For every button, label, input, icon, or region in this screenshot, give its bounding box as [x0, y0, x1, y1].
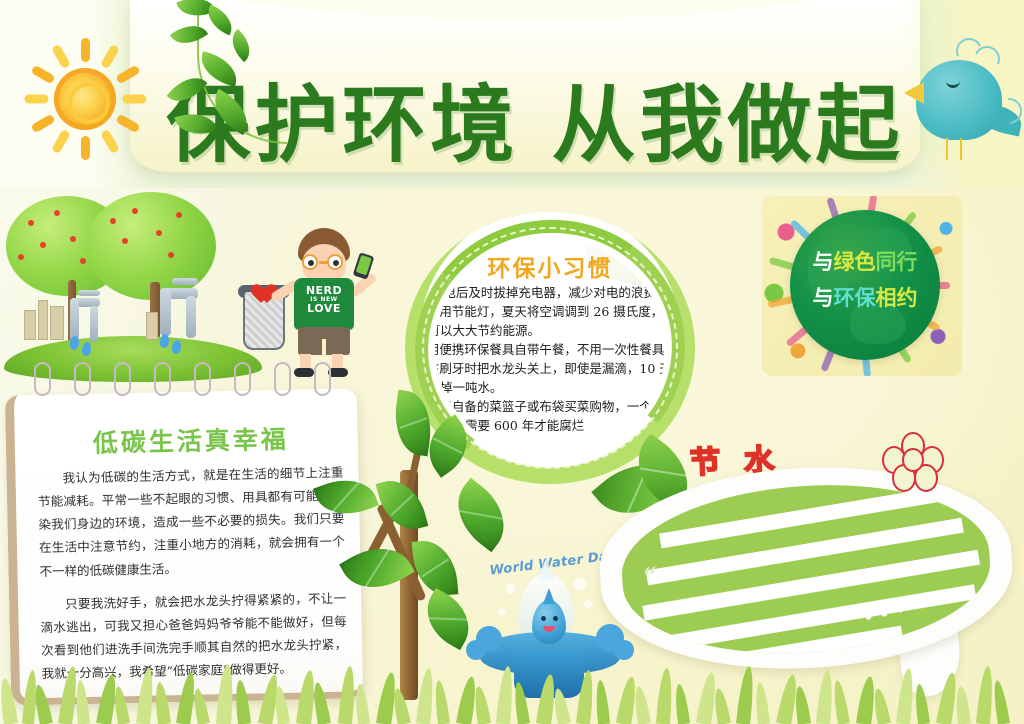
glasses-lens — [327, 254, 343, 270]
habits-title: 环保小习惯 — [435, 249, 665, 283]
slogan-1-part-1: 与 — [813, 249, 834, 274]
mascot-eye — [553, 616, 558, 621]
habit-item: 1. 充电后及时拔掉充电器，减少对电的浪费。 — [435, 283, 665, 302]
sun-core — [54, 68, 116, 130]
spiral-ring — [74, 362, 91, 396]
grass-blade — [976, 666, 995, 724]
grass-blade — [338, 666, 357, 724]
habit-item: 4.在刷牙时把水龙头关上，即使是漏滴，10 天就能漏掉一吨水。 — [435, 359, 665, 397]
faucet-pipe — [160, 288, 171, 336]
faucet-handle — [78, 290, 100, 296]
slogan-1-part-2: 绿色 — [834, 249, 876, 274]
glasses-bridge — [319, 261, 328, 264]
grass-blade — [793, 685, 811, 724]
grass-blade — [416, 668, 436, 724]
grass-blade — [913, 684, 930, 724]
mascot-mouth — [543, 626, 555, 632]
bird-leg — [946, 138, 948, 160]
tshirt-line-3: LOVE — [294, 303, 354, 315]
spiral-ring — [274, 362, 291, 396]
slogan-1-part-3: 同行 — [876, 249, 918, 274]
fruit-icon — [132, 208, 138, 214]
grass-blade — [273, 686, 290, 724]
grass-blade — [896, 668, 916, 724]
leaf-icon — [175, 107, 218, 140]
grass-blade — [736, 666, 756, 724]
slogan-2-part-1: 与 — [813, 285, 834, 310]
bird-icon — [904, 40, 1016, 180]
grass-blade — [0, 677, 18, 724]
grass-blade — [632, 685, 651, 724]
green-globe: 与绿色同行 与环保相约 — [790, 210, 940, 360]
bubble-icon — [498, 608, 506, 616]
spiral-ring — [34, 362, 51, 396]
sun-ray — [25, 95, 49, 104]
sun-ray — [81, 38, 90, 62]
grass-blade — [233, 680, 251, 724]
faucet-body — [186, 296, 196, 338]
tshirt-text: NERD IS NEW LOVE — [294, 285, 354, 315]
bird-beak — [904, 82, 924, 104]
grass-blade — [433, 680, 450, 724]
grass-blade — [136, 668, 156, 724]
grass-blade — [576, 670, 596, 724]
bird-leg — [960, 138, 962, 160]
fruit-icon — [54, 210, 60, 216]
fruit-icon — [156, 230, 162, 236]
grass-blade — [512, 682, 530, 724]
fruit-icon — [40, 242, 46, 248]
slogan-2-part-3: 相约 — [876, 285, 918, 310]
glasses-lens — [302, 254, 318, 270]
fruit-icon — [28, 220, 34, 226]
poster-canvas: 保护环境 从我做起 — [0, 0, 1024, 724]
vine-decoration — [175, 0, 355, 164]
grass-blade — [191, 688, 210, 724]
globe-slogan-line-1: 与绿色同行 — [790, 246, 940, 276]
sun-ray — [81, 136, 90, 160]
grass-blade — [954, 686, 971, 724]
grass-blade — [153, 682, 171, 724]
sun-ray — [100, 129, 120, 154]
building-icon — [38, 300, 48, 340]
globe-slogan-line-2: 与环保相约 — [790, 282, 940, 312]
boy-character: NERD IS NEW LOVE — [268, 228, 380, 376]
sun-ray — [30, 65, 55, 85]
bubble-icon — [506, 584, 516, 594]
spiral-ring — [234, 362, 251, 396]
boy-shoe — [294, 368, 314, 377]
leaf-icon — [442, 478, 519, 552]
spiral-ring — [114, 362, 131, 396]
grass-blade — [673, 684, 690, 724]
building-icon — [146, 312, 158, 340]
grass-blade — [991, 680, 1010, 724]
fruit-icon — [176, 212, 182, 218]
building-icon — [50, 306, 64, 340]
sun-ray — [123, 95, 147, 104]
leaf-icon — [313, 470, 379, 525]
sun-ray — [51, 129, 71, 154]
habit-item: 2.采用节能灯，夏天将空调调到 26 摄氏度，这样可以大大节约能源。 — [435, 302, 665, 340]
fruit-icon — [110, 218, 116, 224]
grass-blade — [472, 685, 491, 724]
grass-blade — [216, 664, 235, 724]
boy-shorts — [298, 327, 350, 355]
grass-blade — [551, 687, 571, 724]
fruit-icon — [122, 238, 128, 244]
bubble-icon — [574, 578, 586, 590]
globe-badge: 与绿色同行 与环保相约 — [762, 196, 962, 396]
bird-body — [916, 60, 1002, 140]
habit-item: 3.用便携环保餐具自带午餐，不用一次性餐具。 — [435, 340, 665, 359]
fruit-icon — [168, 252, 174, 258]
spiral-ring — [194, 362, 211, 396]
sun-ray — [30, 114, 55, 134]
faucet-body — [90, 306, 98, 342]
grass-blade — [311, 682, 331, 724]
grass-blade — [594, 680, 610, 724]
mascot-eye — [541, 616, 546, 621]
bottom-grass-border — [0, 654, 1024, 724]
grass-blade — [354, 684, 370, 724]
grass-blade — [74, 680, 90, 724]
slogan-2-part-2: 环保 — [834, 285, 876, 310]
building-icon — [24, 310, 36, 340]
grass-blade — [712, 687, 731, 724]
sun-ray — [51, 44, 71, 69]
fruit-icon — [18, 254, 24, 260]
spiral-ring — [314, 362, 331, 396]
boy-tshirt: NERD IS NEW LOVE — [294, 278, 354, 330]
flower-icon — [884, 432, 944, 490]
glasses-icon — [300, 254, 348, 270]
grass-blade — [816, 670, 835, 724]
grass-blade — [112, 686, 130, 724]
grass-blade — [831, 680, 850, 724]
fruit-icon — [80, 258, 86, 264]
boy-shoe — [328, 368, 348, 377]
grass-blade — [871, 687, 891, 724]
sun-icon — [22, 36, 148, 162]
faucet-handle — [172, 278, 198, 285]
sun-ray — [115, 114, 140, 134]
sun-ray — [115, 65, 140, 85]
fruit-icon — [70, 236, 76, 242]
quote-mark: “ — [641, 564, 658, 595]
grass-blade — [754, 682, 770, 724]
flower-center — [902, 448, 924, 472]
spiral-ring — [154, 362, 171, 396]
grass-blade — [496, 666, 515, 724]
bubble-icon — [584, 600, 592, 608]
sun-ray — [100, 44, 120, 69]
grass-blade — [656, 668, 674, 724]
